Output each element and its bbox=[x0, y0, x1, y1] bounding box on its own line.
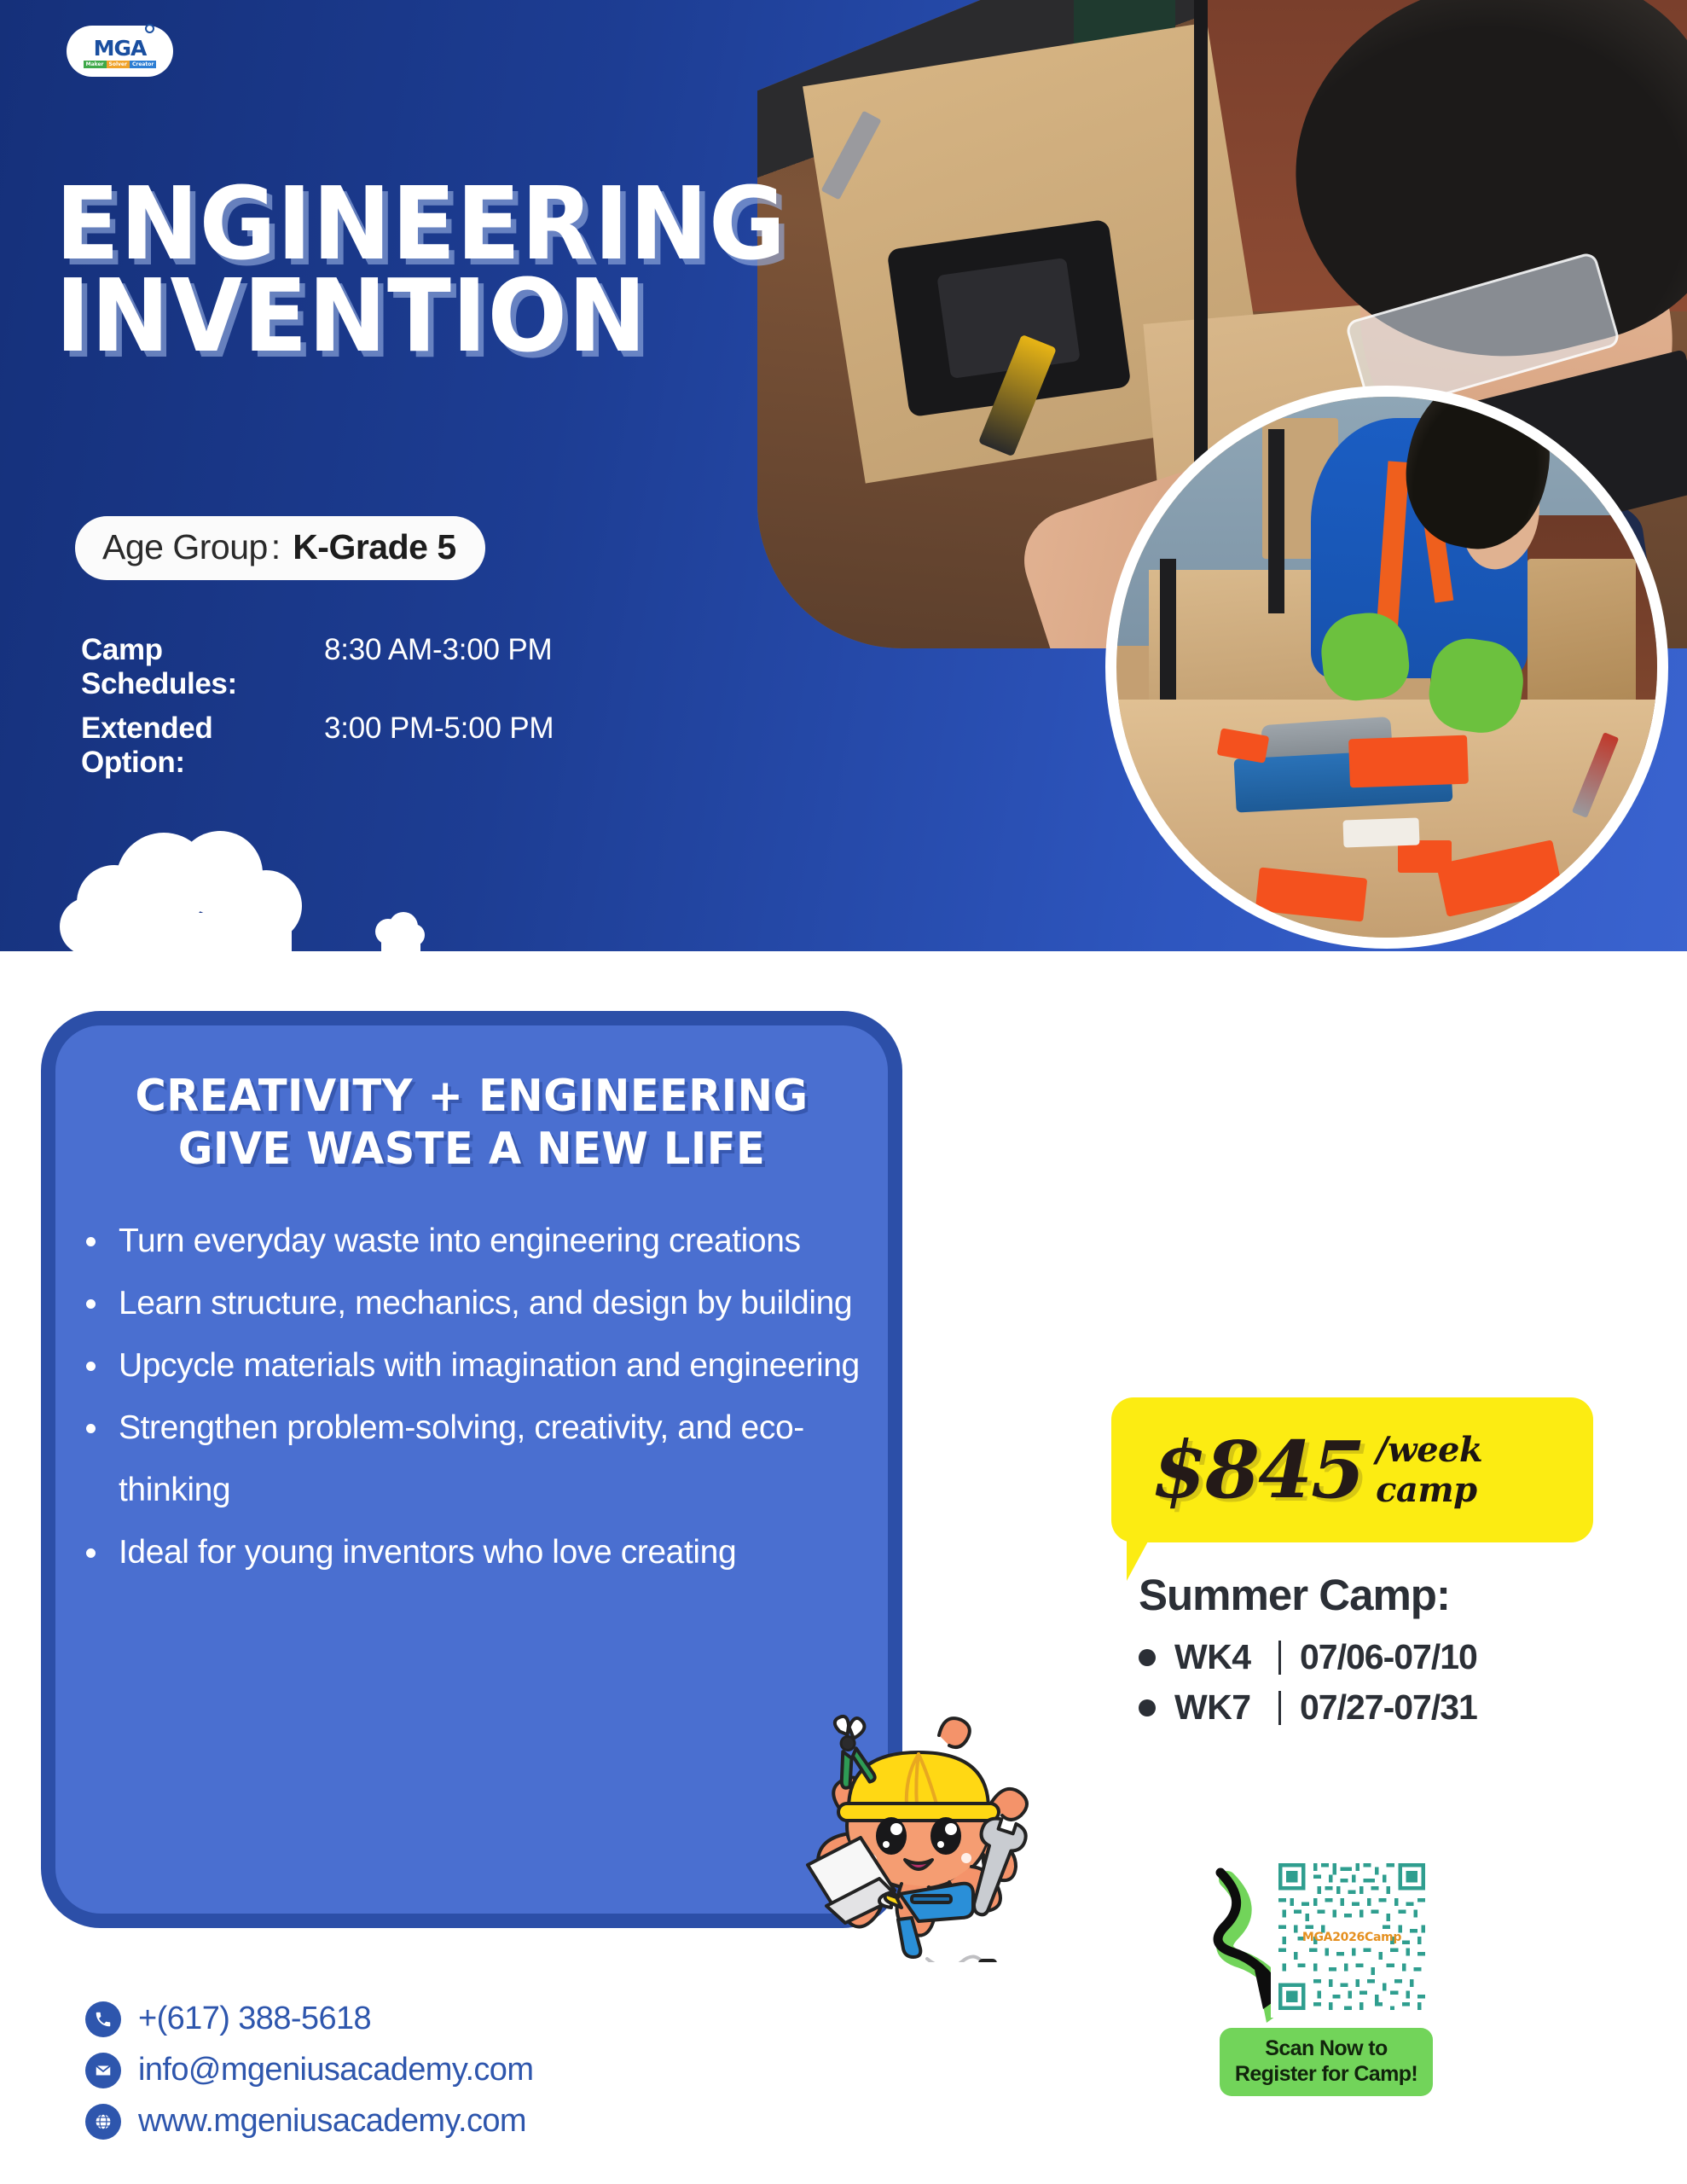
camp-separator bbox=[1278, 1641, 1281, 1675]
camp-dates: 07/27-07/31 bbox=[1300, 1687, 1477, 1728]
email-icon bbox=[85, 2053, 121, 2088]
bullet-dot-icon bbox=[1139, 1699, 1156, 1716]
mga-logo: MGA Maker Solver Creator bbox=[67, 26, 173, 77]
phone-number: +(617) 388-5618 bbox=[138, 2001, 371, 2037]
schedule-key: Extended Option: bbox=[81, 712, 324, 780]
age-group-label: Age Group bbox=[102, 527, 268, 567]
photo-bottom-paper-bag bbox=[1528, 559, 1636, 700]
title-line-2: INVENTION bbox=[55, 270, 786, 362]
globe-icon bbox=[85, 2104, 121, 2140]
camp-separator bbox=[1278, 1691, 1281, 1725]
schedule-key: Camp Schedules: bbox=[81, 633, 324, 701]
summer-camp-title: Summer Camp: bbox=[1139, 1570, 1477, 1620]
price-unit: /week camp bbox=[1376, 1430, 1593, 1510]
bullet-dot-icon bbox=[1139, 1649, 1156, 1666]
camp-session-row: WK4 07/06-07/10 bbox=[1139, 1637, 1477, 1677]
cta-line-2: Register for Camp! bbox=[1228, 2061, 1424, 2087]
contact-phone-row[interactable]: +(617) 388-5618 bbox=[85, 2001, 533, 2037]
logo-tag-creator: Creator bbox=[130, 61, 156, 68]
photo-bottom-chair-post bbox=[1268, 429, 1284, 613]
contact-email-row[interactable]: info@mgeniusacademy.com bbox=[85, 2052, 533, 2088]
title-line-1: ENGINEERING bbox=[55, 177, 786, 270]
camp-week-label: WK4 bbox=[1174, 1637, 1275, 1677]
logo-text: MGA bbox=[94, 38, 147, 59]
schedule-row: Camp Schedules: 8:30 AM-3:00 PM bbox=[81, 633, 554, 701]
email-address: info@mgeniusacademy.com bbox=[138, 2052, 533, 2088]
logo-mark: MGA bbox=[94, 35, 147, 59]
summer-camp-section: Summer Camp: WK4 07/06-07/10 WK7 07/27-0… bbox=[1139, 1570, 1477, 1738]
photo-bottom-desk-leg bbox=[1160, 559, 1176, 721]
list-item: Turn everyday waste into engineering cre… bbox=[74, 1210, 861, 1272]
cloud-small-decoration bbox=[371, 909, 426, 951]
list-item: Upcycle materials with imagination and e… bbox=[74, 1334, 861, 1397]
gear-icon bbox=[145, 24, 154, 33]
photo-top-tool-case-inner bbox=[936, 258, 1080, 379]
octopus-mascot bbox=[789, 1706, 1053, 1962]
photo-bottom-orange-part-1 bbox=[1348, 735, 1469, 788]
list-item: Strengthen problem-solving, creativity, … bbox=[74, 1397, 861, 1521]
camp-schedule-block: Camp Schedules: 8:30 AM-3:00 PM Extended… bbox=[81, 633, 554, 790]
price-bubble: $845 /week camp bbox=[1111, 1397, 1593, 1542]
logo-tagline: Maker Solver Creator bbox=[84, 61, 157, 68]
schedule-value: 3:00 PM-5:00 PM bbox=[324, 712, 554, 746]
feature-card-heading: CREATIVITY + ENGINEERING GIVE WASTE A NE… bbox=[76, 1070, 867, 1176]
camp-session-row: WK7 07/27-07/31 bbox=[1139, 1687, 1477, 1728]
qr-code[interactable]: MGA2026Camp bbox=[1271, 1856, 1433, 2018]
feature-card: CREATIVITY + ENGINEERING GIVE WASTE A NE… bbox=[41, 1011, 902, 1928]
age-group-colon: : bbox=[271, 527, 281, 567]
phone-icon bbox=[85, 2001, 121, 2037]
photo-bottom-syringe bbox=[1343, 817, 1420, 847]
feature-heading-line-2: GIVE WASTE A NEW LIFE bbox=[97, 1123, 846, 1176]
contact-info: +(617) 388-5618 info@mgeniusacademy.com bbox=[85, 2001, 533, 2154]
logo-tag-maker: Maker bbox=[84, 61, 107, 68]
feature-bullet-list: Turn everyday waste into engineering cre… bbox=[74, 1210, 888, 1583]
camp-week-label: WK7 bbox=[1174, 1687, 1275, 1728]
list-item: Ideal for young inventors who love creat… bbox=[74, 1521, 861, 1583]
cta-line-1: Scan Now to bbox=[1228, 2036, 1424, 2061]
contact-website-row[interactable]: www.mgeniusacademy.com bbox=[85, 2103, 533, 2140]
list-item: Learn structure, mechanics, and design b… bbox=[74, 1272, 861, 1334]
schedule-row: Extended Option: 3:00 PM-5:00 PM bbox=[81, 712, 554, 780]
camp-dates: 07/06-07/10 bbox=[1300, 1637, 1477, 1677]
feature-heading-line-1: CREATIVITY + ENGINEERING bbox=[97, 1070, 846, 1123]
photo-student-building-model bbox=[1105, 386, 1668, 949]
age-group-value: K-Grade 5 bbox=[293, 527, 455, 567]
qr-code-label: MGA2026Camp bbox=[1271, 1931, 1433, 1944]
logo-tag-solver: Solver bbox=[107, 61, 130, 68]
schedule-value: 8:30 AM-3:00 PM bbox=[324, 633, 552, 667]
page-title: ENGINEERING INVENTION bbox=[55, 177, 841, 362]
cloud-large-decoration bbox=[53, 821, 326, 951]
qr-registration-block[interactable]: MGA2026Camp Scan Now to Register for Cam… bbox=[1271, 1856, 1433, 2096]
scan-register-cta[interactable]: Scan Now to Register for Camp! bbox=[1220, 2028, 1433, 2096]
website-url: www.mgeniusacademy.com bbox=[138, 2103, 526, 2140]
price-amount: $845 bbox=[1152, 1424, 1364, 1516]
age-group-badge: Age Group : K-Grade 5 bbox=[75, 516, 485, 580]
